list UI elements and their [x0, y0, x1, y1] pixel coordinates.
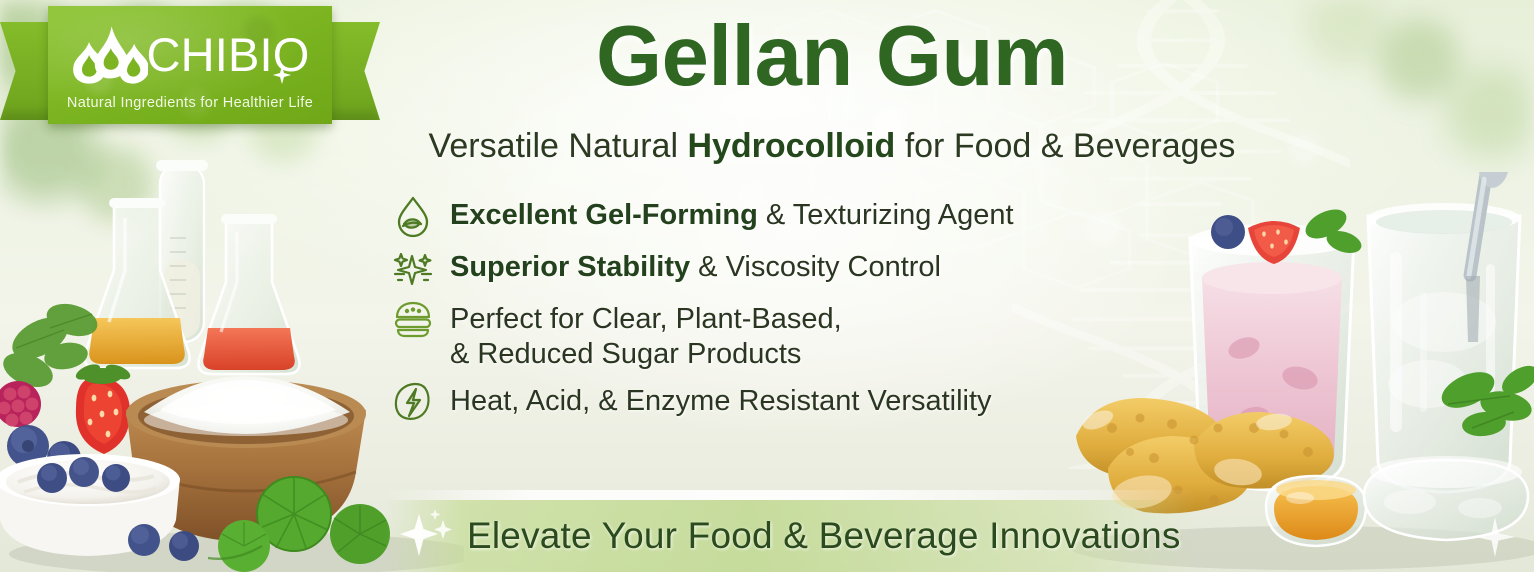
list-item: Perfect for Clear, Plant-Based, & Reduce…: [390, 300, 1070, 373]
ribbon-body: CHIBIO Natural Ingredients for Healthier…: [48, 6, 332, 124]
list-item: Superior Stability & Viscosity Control: [390, 248, 1070, 291]
corner-sparkle-icon: [1472, 514, 1518, 560]
logo-lockup: CHIBIO: [70, 24, 309, 86]
subtitle-pre: Versatile Natural: [429, 127, 688, 165]
list-item: Heat, Acid, & Enzyme Resistant Versatili…: [390, 382, 1070, 425]
feature-label: Superior Stability & Viscosity Control: [450, 248, 941, 285]
sparkle-icon: [272, 45, 292, 65]
feature-bold: Excellent Gel-Forming: [450, 199, 758, 231]
page-title: Gellan Gum: [402, 14, 1262, 99]
brand-logo-ribbon[interactable]: CHIBIO Natural Ingredients for Healthier…: [0, 6, 380, 136]
brand-name: CHIBIO: [146, 31, 309, 78]
burger-icon: [390, 297, 436, 343]
brand-tagline: Natural Ingredients for Healthier Life: [67, 95, 313, 111]
sparkle-burst-icon: [393, 506, 467, 566]
page-subtitle: Versatile Natural Hydrocolloid for Food …: [372, 128, 1292, 165]
droplet-leaf-icon: [390, 193, 436, 239]
flame-leaf-icon: [70, 24, 148, 86]
bottom-divider: [385, 490, 1195, 500]
sparkles-icon: [390, 245, 436, 291]
feature-rest: & Viscosity Control: [690, 251, 941, 283]
feature-rest: & Texturizing Agent: [758, 199, 1014, 231]
feature-label: Perfect for Clear, Plant-Based, & Reduce…: [450, 300, 842, 373]
product-banner: CHIBIO Natural Ingredients for Healthier…: [0, 0, 1534, 572]
feature-bold: Superior Stability: [450, 251, 690, 283]
feature-rest: Perfect for Clear, Plant-Based,: [450, 302, 842, 337]
list-item: Excellent Gel-Forming & Texturizing Agen…: [390, 196, 1070, 239]
footer-band: Elevate Your Food & Beverage Innovations: [385, 500, 1195, 572]
subtitle-bold: Hydrocolloid: [687, 127, 895, 165]
feature-rest: Heat, Acid, & Enzyme Resistant Versatili…: [450, 385, 992, 417]
feature-label: Heat, Acid, & Enzyme Resistant Versatili…: [450, 382, 992, 419]
footer-tagline: Elevate Your Food & Beverage Innovations: [467, 515, 1181, 557]
subtitle-post: for Food & Beverages: [895, 127, 1235, 165]
feature-label: Excellent Gel-Forming & Texturizing Agen…: [450, 196, 1014, 233]
feature-line2: & Reduced Sugar Products: [450, 337, 842, 372]
feature-list: Excellent Gel-Forming & Texturizing Agen…: [390, 196, 1070, 434]
bolt-leaf-icon: [390, 379, 436, 425]
